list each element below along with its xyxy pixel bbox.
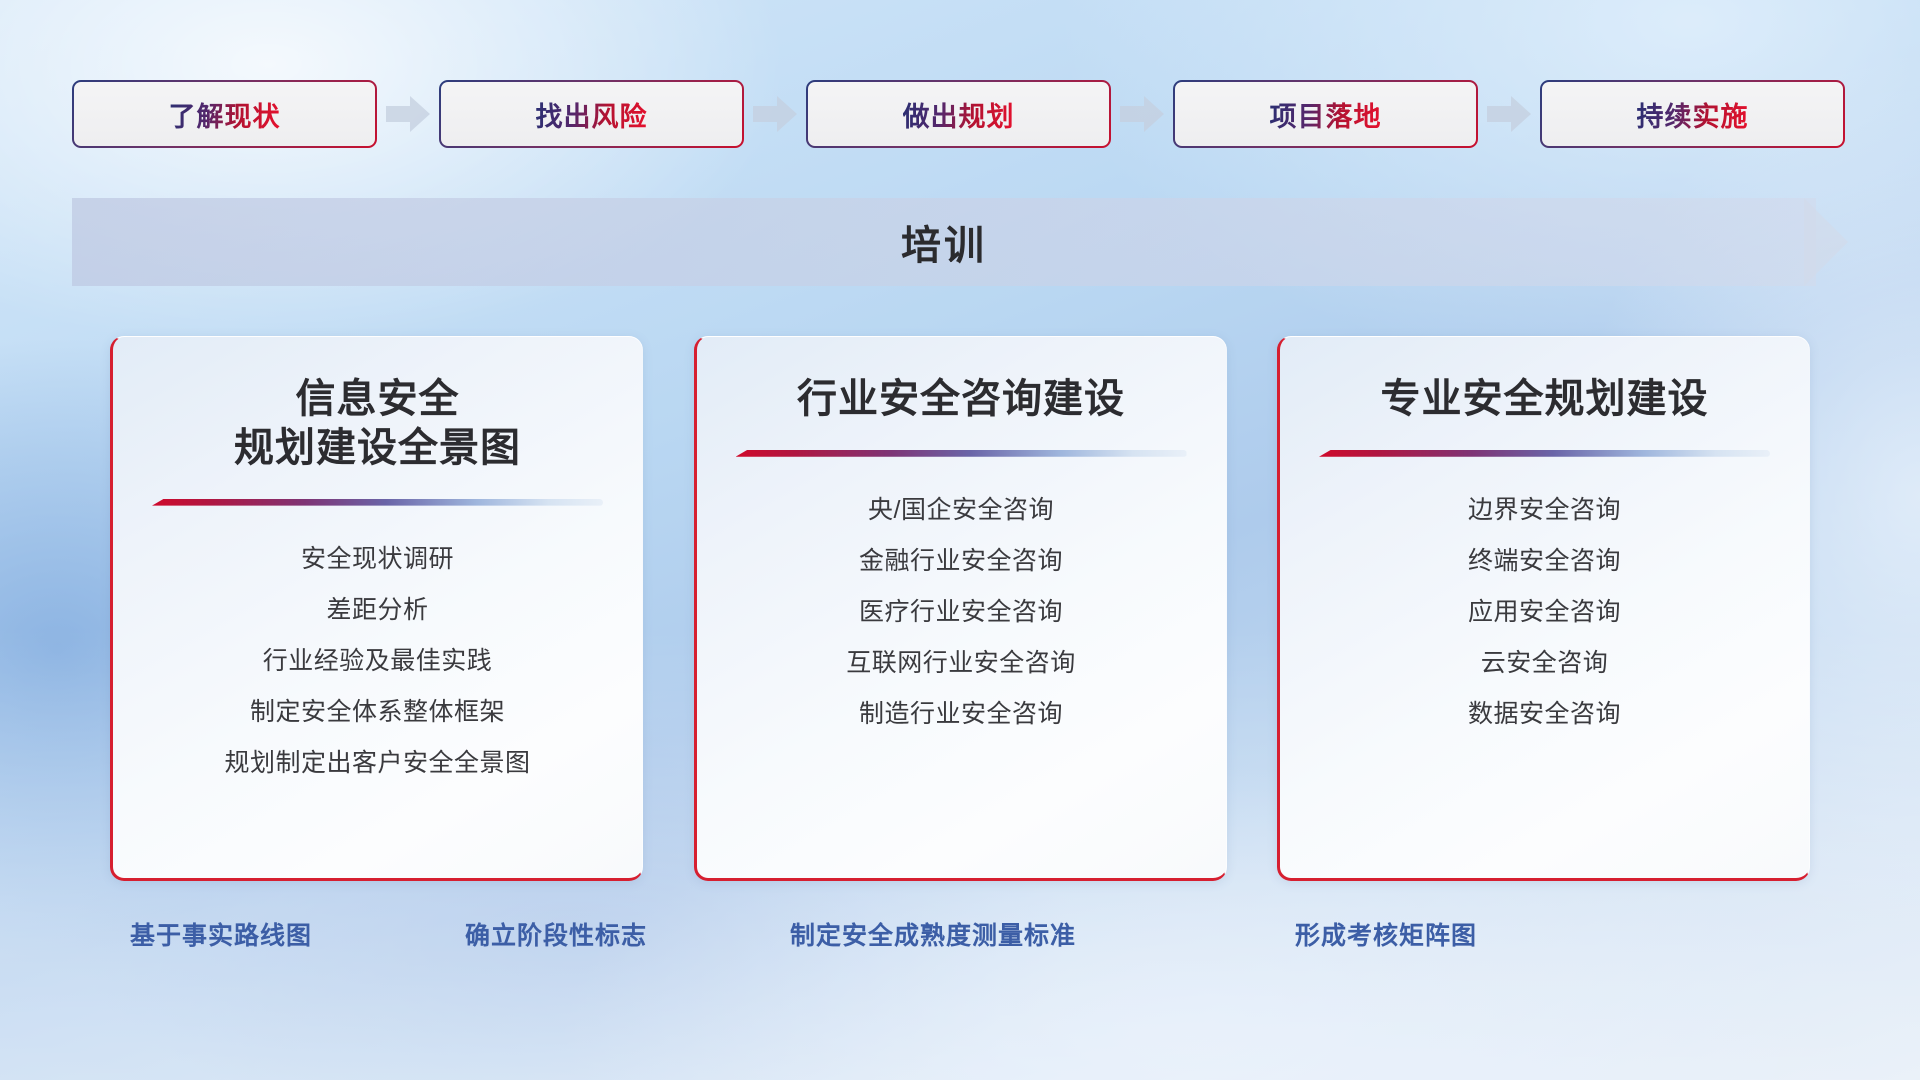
service-card-3[interactable]: 专业安全规划建设边界安全咨询终端安全咨询应用安全咨询云安全咨询数据安全咨询 [1277, 336, 1810, 881]
process-step-label: 项目落地 [1270, 95, 1382, 134]
service-card-title: 专业安全规划建设 [1381, 375, 1709, 424]
service-card-item: 终端安全咨询 [1468, 540, 1621, 582]
service-card-item: 制造行业安全咨询 [859, 693, 1063, 735]
training-banner-title: 培训 [72, 198, 1816, 286]
footer-label-1: 基于事实路线图 [130, 916, 312, 952]
process-step-label: 了解现状 [169, 95, 281, 134]
process-step-label: 持续实施 [1637, 95, 1749, 134]
service-card-divider [736, 450, 1187, 457]
process-step-inner: 项目落地 [1175, 82, 1476, 146]
service-card-title: 信息安全 规划建设全景图 [234, 375, 521, 473]
process-step-2[interactable]: 找出风险 [439, 80, 744, 148]
process-step-5[interactable]: 持续实施 [1540, 80, 1845, 148]
service-card-list: 央/国企安全咨询金融行业安全咨询医疗行业安全咨询互联网行业安全咨询制造行业安全咨… [846, 489, 1076, 735]
process-step-inner: 了解现状 [74, 82, 375, 146]
process-step-inner: 持续实施 [1542, 82, 1843, 146]
process-step-inner: 做出规划 [808, 82, 1109, 146]
service-card-list: 边界安全咨询终端安全咨询应用安全咨询云安全咨询数据安全咨询 [1468, 489, 1621, 735]
footer-label-row: 基于事实路线图确立阶段性标志制定安全成熟度测量标准形成考核矩阵图 [0, 916, 1920, 964]
service-card-item: 医疗行业安全咨询 [859, 591, 1063, 633]
service-card-item: 规划制定出客户安全全景图 [224, 742, 530, 784]
service-card-2[interactable]: 行业安全咨询建设央/国企安全咨询金融行业安全咨询医疗行业安全咨询互联网行业安全咨… [694, 336, 1227, 881]
process-step-3[interactable]: 做出规划 [806, 80, 1111, 148]
step-arrow-3 [1111, 94, 1173, 134]
service-card-item: 云安全咨询 [1481, 642, 1609, 684]
process-step-1[interactable]: 了解现状 [72, 80, 377, 148]
service-card-1[interactable]: 信息安全 规划建设全景图安全现状调研差距分析行业经验及最佳实践制定安全体系整体框… [110, 336, 643, 881]
service-card-item: 数据安全咨询 [1468, 693, 1621, 735]
service-card-item: 央/国企安全咨询 [868, 489, 1054, 531]
process-step-4[interactable]: 项目落地 [1173, 80, 1478, 148]
step-arrow-4 [1478, 94, 1540, 134]
service-card-item: 安全现状调研 [301, 538, 454, 580]
service-card-item: 互联网行业安全咨询 [846, 642, 1076, 684]
slide-stage: 了解现状找出风险做出规划项目落地持续实施 培训 信息安全 规划建设全景图安全现状… [0, 0, 1920, 1080]
service-card-list: 安全现状调研差距分析行业经验及最佳实践制定安全体系整体框架规划制定出客户安全全景… [224, 538, 530, 784]
footer-label-3: 制定安全成熟度测量标准 [790, 916, 1076, 952]
step-arrow-2 [744, 94, 806, 134]
process-step-row: 了解现状找出风险做出规划项目落地持续实施 [72, 78, 1848, 150]
service-card-item: 应用安全咨询 [1468, 591, 1621, 633]
footer-label-2: 确立阶段性标志 [465, 916, 647, 952]
service-card-item: 边界安全咨询 [1468, 489, 1621, 531]
step-arrow-1 [377, 94, 439, 134]
footer-label-4: 形成考核矩阵图 [1295, 916, 1477, 952]
service-card-item: 差距分析 [326, 589, 428, 631]
service-card-title: 行业安全咨询建设 [797, 375, 1125, 424]
service-card-item: 行业经验及最佳实践 [263, 640, 493, 682]
service-card-item: 制定安全体系整体框架 [250, 691, 505, 733]
service-card-divider [152, 499, 603, 506]
service-card-item: 金融行业安全咨询 [859, 540, 1063, 582]
process-step-label: 做出规划 [903, 95, 1015, 134]
service-card-divider [1319, 450, 1770, 457]
process-step-inner: 找出风险 [441, 82, 742, 146]
service-card-row: 信息安全 规划建设全景图安全现状调研差距分析行业经验及最佳实践制定安全体系整体框… [110, 336, 1810, 881]
process-step-label: 找出风险 [536, 95, 648, 134]
training-banner: 培训 [72, 198, 1848, 286]
